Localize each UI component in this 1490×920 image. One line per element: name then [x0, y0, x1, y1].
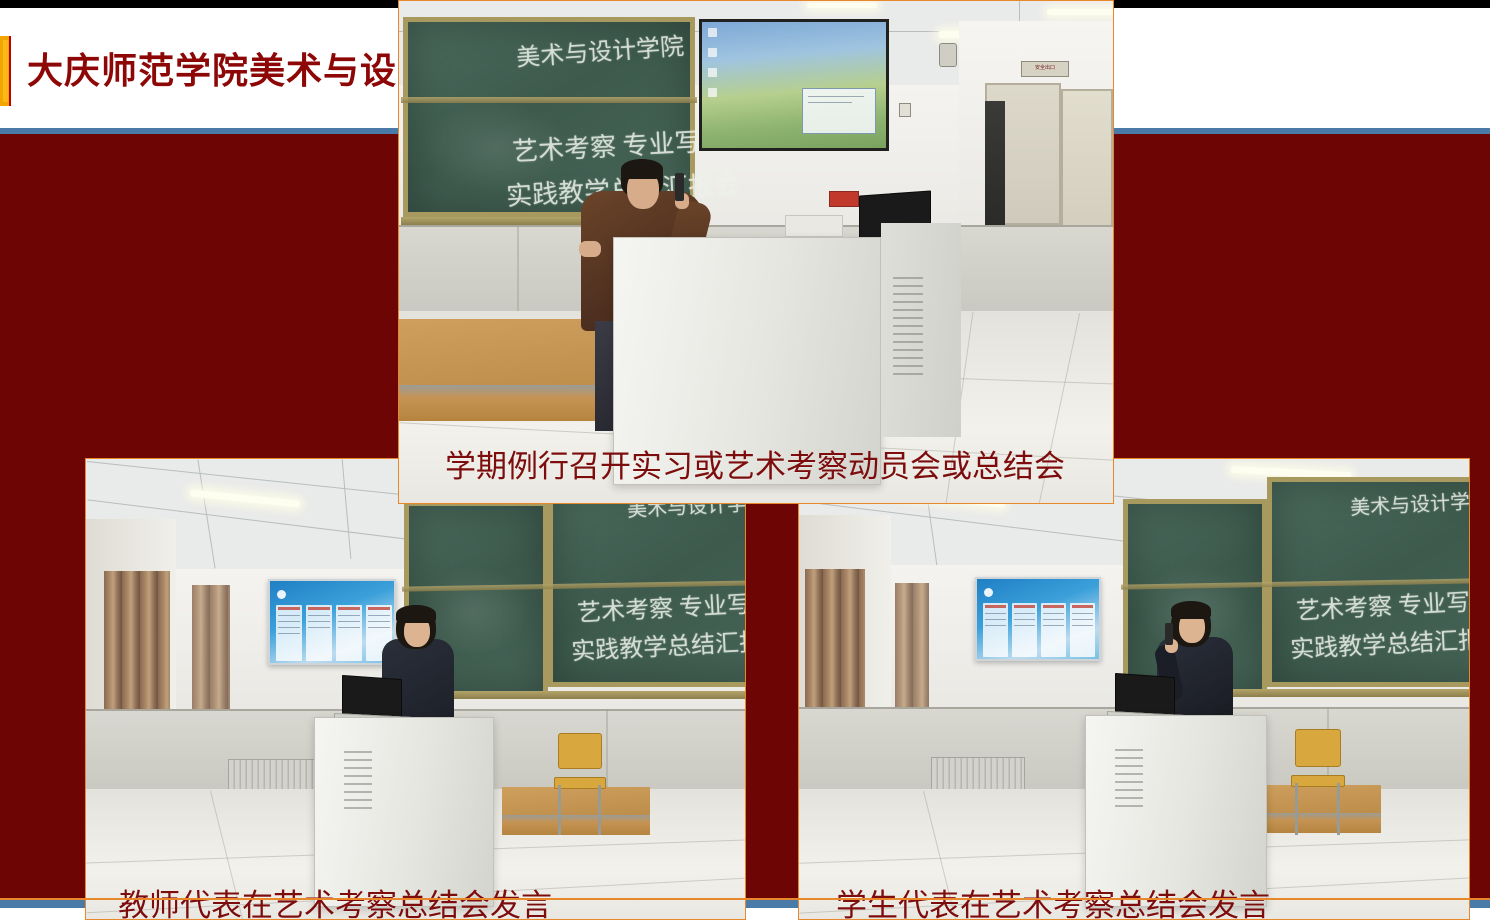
student-speech-photo[interactable]: 美术与设计学院 艺术考察 专业写生 实践教学总结汇报会: [798, 458, 1470, 920]
board-column-header: [278, 607, 300, 610]
board-text-column: [1012, 603, 1037, 657]
ceiling-lamp: [1047, 9, 1114, 15]
chair-back: [1295, 729, 1341, 767]
lectern-vent: [1115, 765, 1143, 767]
board-column-header: [985, 605, 1006, 608]
lectern-vent: [893, 333, 923, 335]
board-text-line: [1014, 619, 1035, 620]
projected-text-line: [808, 96, 864, 97]
chalkboard-text-line1: 艺术考察 专业写生: [511, 120, 727, 168]
ceiling-lamp: [807, 3, 877, 8]
lectern-vent: [344, 783, 372, 785]
chair-back: [558, 733, 602, 769]
board-text-line: [368, 621, 390, 622]
board-text-line: [985, 625, 1006, 626]
board-logo-icon: [277, 590, 286, 599]
board-text-line: [985, 619, 1006, 620]
board-text-line: [338, 621, 360, 622]
lectern-vent: [893, 301, 923, 303]
projector-screen: [699, 19, 889, 151]
header-accent-inner: [3, 40, 8, 102]
board-text-line: [278, 633, 300, 634]
lectern-vent: [893, 317, 923, 319]
board-column-header: [308, 607, 330, 610]
information-board: [975, 577, 1101, 661]
board-text-line: [278, 627, 300, 628]
desktop-icon: [708, 28, 717, 37]
board-text-line: [1043, 619, 1064, 620]
board-logo-icon: [984, 588, 993, 597]
lectern-vent: [893, 309, 923, 311]
board-text-line: [278, 621, 300, 622]
projected-window: [802, 88, 876, 134]
lectern-vent: [893, 373, 923, 375]
board-text-line: [338, 627, 360, 628]
lectern: [314, 717, 494, 907]
information-board: [268, 579, 396, 665]
chalkboard-text-line2: 实践教学总结汇报会: [1289, 618, 1470, 664]
microphone: [675, 173, 684, 201]
lectern-vent: [344, 775, 372, 777]
chair-leg: [1337, 783, 1340, 835]
red-folder: [829, 191, 859, 207]
classroom-scene-bottom-left: 美术与设计学院 艺术考察 专业写生 实践教学总结汇报会: [86, 459, 745, 919]
board-text-line: [308, 627, 330, 628]
classroom-scene-bottom-right: 美术与设计学院 艺术考察 专业写生 实践教学总结汇报会: [799, 459, 1469, 919]
header-accent-bar: [0, 36, 11, 106]
lectern: [1085, 715, 1267, 907]
board-text-line: [308, 615, 330, 616]
lectern-vent: [344, 759, 372, 761]
chair-leg: [598, 785, 601, 835]
chair-leg: [1295, 783, 1298, 835]
board-column-header: [338, 607, 360, 610]
board-text-line: [1014, 613, 1035, 614]
lectern-vent: [893, 349, 923, 351]
chalkboard-text-heading: 美术与设计学院: [1349, 484, 1470, 520]
wainscot-seam: [517, 225, 519, 317]
lectern-vent: [1115, 773, 1143, 775]
board-text-line: [1043, 625, 1064, 626]
wainscot-seam: [606, 709, 608, 795]
board-column-header: [368, 607, 390, 610]
board-column-header: [1014, 605, 1035, 608]
lectern-vent: [344, 807, 372, 809]
lectern-vent: [1115, 781, 1143, 783]
wall-outlet: [899, 103, 911, 117]
lectern-vent: [1115, 757, 1143, 759]
wall-speaker: [939, 43, 957, 67]
lectern-vent: [1115, 797, 1143, 799]
lectern-vent: [344, 791, 372, 793]
chair-leg: [558, 785, 561, 835]
board-text-column: [336, 605, 362, 661]
lectern-vent: [344, 751, 372, 753]
lectern-vent: [893, 365, 923, 367]
photo-caption-top: 学期例行召开实习或艺术考察动员会或总结会: [445, 441, 1065, 486]
board-text-column: [1041, 603, 1066, 657]
projected-text-line: [808, 102, 852, 103]
board-text-line: [985, 613, 1006, 614]
board-column-header: [1072, 605, 1093, 608]
stage-platform-face: [502, 815, 650, 835]
chalkboard-text-line1: 艺术考察 专业写生: [576, 583, 746, 628]
lectern-vent: [893, 277, 923, 279]
board-text-line: [338, 615, 360, 616]
chalkboard-text-line2: 实践教学总结汇报会: [570, 620, 746, 666]
footer-orange-line: [0, 898, 1490, 900]
lectern-vent: [344, 799, 372, 801]
board-text-line: [1072, 613, 1093, 614]
lectern-vent: [893, 285, 923, 287]
board-text-line: [308, 621, 330, 622]
photo-caption-bottom-left: 教师代表在艺术考察总结会发言: [118, 880, 552, 920]
lectern-side-panel: [881, 223, 961, 437]
lectern-vent: [344, 767, 372, 769]
board-text-column: [983, 603, 1008, 657]
mobilization-meeting-photo[interactable]: 安全出口 美术与设计学院 艺术考察 专业写生 实践教学总结汇报会: [398, 0, 1114, 504]
presenter-fringe: [621, 159, 663, 179]
board-text-column: [1070, 603, 1095, 657]
board-text-line: [368, 627, 390, 628]
door-panel: [1061, 89, 1113, 239]
exit-sign: 安全出口: [1021, 61, 1069, 77]
microphone: [1165, 623, 1173, 645]
board-text-line: [368, 615, 390, 616]
board-text-line: [1072, 619, 1093, 620]
board-text-line: [1072, 625, 1093, 626]
board-text-line: [1043, 613, 1064, 614]
lectern-vent: [893, 357, 923, 359]
desktop-icon: [708, 88, 717, 97]
classroom-scene-top: 安全出口 美术与设计学院 艺术考察 专业写生 实践教学总结汇报会: [399, 1, 1113, 503]
document-stack: [785, 215, 843, 237]
board-text-column: [306, 605, 332, 661]
presenter-hand-left: [579, 241, 601, 257]
chalk-rail: [401, 97, 697, 103]
teacher-speech-photo[interactable]: 美术与设计学院 艺术考察 专业写生 实践教学总结汇报会: [85, 458, 746, 920]
board-text-line: [278, 615, 300, 616]
lectern-vent: [893, 325, 923, 327]
lectern-vent: [1115, 749, 1143, 751]
desktop-icon: [708, 48, 717, 57]
chalkboard-text-heading: 美术与设计学院: [515, 26, 685, 73]
lectern-vent: [1115, 805, 1143, 807]
board-column-header: [1043, 605, 1064, 608]
radiator: [931, 757, 1025, 793]
lectern-vent: [893, 341, 923, 343]
photo-caption-bottom-right: 学生代表在艺术考察总结会发言: [836, 880, 1270, 920]
presentation-slide: 大庆师范学院美术与设计学院 安全出口: [0, 0, 1490, 920]
chalkboard-text-line1: 艺术考察 专业写生: [1295, 581, 1470, 626]
desktop-icon: [708, 68, 717, 77]
lectern-vent: [893, 293, 923, 295]
speaker-fringe: [1171, 601, 1211, 619]
speaker-fringe: [396, 605, 436, 623]
board-text-line: [1014, 625, 1035, 626]
lectern-vent: [1115, 789, 1143, 791]
